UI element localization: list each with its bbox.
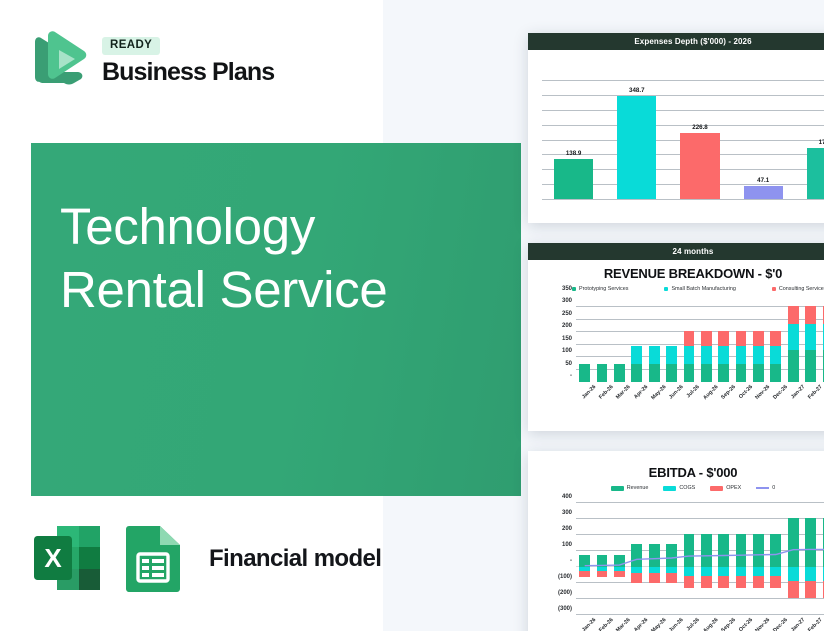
bar-segment — [753, 346, 764, 364]
x-axis-label: Oct-26 — [738, 384, 754, 400]
bar-segment-revenue — [753, 534, 764, 567]
play-triangle-logo-icon — [31, 28, 89, 90]
bar-slot — [785, 295, 802, 382]
stacked-bar — [579, 503, 590, 615]
bar-slot — [576, 503, 593, 615]
y-axis-tick: 100 — [562, 542, 576, 548]
chart-card-ebitda[interactable]: EBITDA - $'000 RevenueCOGSOPEX0 40030020… — [528, 451, 824, 631]
y-axis-tick: 400 — [562, 494, 576, 500]
bar-segment-revenue — [649, 544, 660, 567]
bar-segment-revenue — [614, 555, 625, 567]
legend-item: 0 — [756, 485, 775, 491]
stacked-bar — [718, 503, 729, 615]
x-axis-label: Jan-26 — [581, 384, 597, 400]
stacked-bar — [684, 331, 695, 382]
bar-segment — [753, 364, 764, 382]
bar-segment — [684, 331, 695, 346]
bar-segment — [718, 346, 729, 364]
stacked-bar — [684, 503, 695, 615]
bar-segment — [718, 331, 729, 346]
bar-segment — [684, 346, 695, 364]
x-axis-label: May-26 — [650, 384, 667, 401]
x-axis-label: Apr-26 — [633, 384, 649, 400]
legend-swatch — [664, 287, 668, 291]
x-axis-label: Dec-26 — [773, 617, 790, 631]
y-axis-tick: 300 — [562, 510, 576, 516]
bar-segment — [805, 324, 816, 350]
bar-slot — [593, 503, 610, 615]
bar-slot — [750, 503, 767, 615]
x-axis-label: Dec-26 — [773, 384, 790, 401]
bar-segment — [770, 346, 781, 364]
x-axis-label: Jun-26 — [668, 384, 685, 401]
stacked-bar — [649, 346, 660, 382]
bar-slot — [819, 295, 824, 382]
stacked-bar — [649, 503, 660, 615]
y-axis-tick: (300) — [558, 606, 576, 612]
legend-swatch — [663, 486, 676, 491]
bar-slot: 176.5 — [795, 81, 824, 200]
bar-slot: 348.7 — [605, 81, 668, 200]
x-axis-label: Jan-27 — [790, 617, 806, 631]
bar-segment — [649, 364, 660, 382]
bar-slot — [715, 295, 732, 382]
bar-segment — [788, 324, 799, 350]
bar-slot: 138.9 — [542, 81, 605, 200]
legend-label: Consulting Services — [779, 286, 824, 292]
bar-segment — [770, 364, 781, 382]
bar-segment-opex — [736, 576, 747, 588]
bar: 47.1 — [744, 186, 783, 200]
bar-slot — [785, 503, 802, 615]
stacked-bar — [579, 364, 590, 382]
x-axis-label: Apr-26 — [633, 617, 649, 631]
bar: 138.9 — [554, 159, 593, 200]
bar-slot — [715, 503, 732, 615]
stacked-bar — [631, 503, 642, 615]
legend-swatch — [772, 287, 776, 291]
y-axis-tick: 50 — [565, 361, 576, 367]
x-axis-labels-ebitda: Jan-26Feb-26Mar-26Apr-26May-26Jun-26Jul-… — [576, 615, 824, 623]
bar-segment-opex — [649, 573, 660, 582]
y-axis-tick: (200) — [558, 590, 576, 596]
stacked-bar — [753, 503, 764, 615]
x-axis-label: Jul-26 — [685, 384, 700, 399]
legend-label: 0 — [772, 485, 775, 491]
bar-slot: 47.1 — [732, 81, 795, 200]
bar-segment-cogs — [805, 567, 816, 581]
x-axis-label: Aug-26 — [702, 384, 719, 401]
x-axis-label: Jun-26 — [668, 617, 685, 631]
bar-segment — [614, 364, 625, 382]
chart-band-title-expenses: Expenses Depth ($'000) - 2026 — [528, 33, 824, 50]
bar: 348.7 — [617, 96, 656, 200]
bar-segment — [805, 306, 816, 324]
stacked-bar — [597, 364, 608, 382]
bar-segment-opex — [805, 581, 816, 598]
legend-item: Prototyping Services — [572, 286, 628, 292]
x-axis-label: Feb-26 — [598, 384, 615, 401]
bar-slot — [802, 295, 819, 382]
x-axis-labels-revenue: Jan-26Feb-26Mar-26Apr-26May-26Jun-26Jul-… — [576, 382, 824, 390]
x-axis-label: Mar-26 — [616, 617, 633, 631]
bar-segment — [666, 364, 677, 382]
bar-slot — [646, 295, 663, 382]
bar-segment-opex — [666, 573, 677, 582]
legend-label: Prototyping Services — [579, 286, 628, 292]
bar-slot — [611, 295, 628, 382]
google-sheets-icon — [120, 522, 188, 595]
format-footer: X Financial model — [31, 522, 381, 595]
x-axis-label: Sep-26 — [720, 384, 737, 401]
legend-label: Revenue — [627, 485, 649, 491]
bar-slot — [698, 503, 715, 615]
bar-segment-opex — [614, 571, 625, 578]
ready-badge: READY — [102, 37, 160, 55]
y-axis-tick: (100) — [558, 574, 576, 580]
xlab-slot: Jan-26 — [576, 382, 593, 390]
bar-segment — [649, 346, 660, 364]
bar-segment — [597, 364, 608, 382]
chart-card-revenue-breakdown[interactable]: 24 months REVENUE BREAKDOWN - $'0 Protot… — [528, 243, 824, 431]
stacked-bar — [701, 503, 712, 615]
microsoft-excel-icon: X — [31, 522, 103, 595]
bar-segment — [718, 364, 729, 382]
stacked-bar — [753, 331, 764, 382]
bar-slot: 226.8 — [668, 81, 731, 200]
brand-header: READY Business Plans — [31, 28, 274, 90]
stacked-bar — [614, 503, 625, 615]
bar-segment — [753, 331, 764, 346]
bar-slot — [593, 295, 610, 382]
bar-segment-opex — [701, 576, 712, 588]
bar-segment-revenue — [597, 555, 608, 567]
y-axis-tick: 150 — [562, 336, 576, 342]
legend-label: COGS — [679, 485, 695, 491]
bar-segment — [736, 331, 747, 346]
bar-segment — [805, 350, 816, 382]
y-axis-tick: 350 — [562, 286, 576, 292]
ebitda-plot: 400300200100-(100)(200)(300) Jan-26Feb-2… — [576, 503, 824, 615]
bar-segment-cogs — [770, 567, 781, 576]
bar: 176.5 — [807, 148, 824, 201]
bar-segment-opex — [631, 573, 642, 582]
bar-segment — [701, 346, 712, 364]
xlab-slot: Jan-26 — [576, 615, 593, 623]
bar-segment — [684, 364, 695, 382]
bar-segment-revenue — [631, 544, 642, 567]
bar-segment-opex — [770, 576, 781, 588]
bar-segment — [788, 306, 799, 324]
stacked-bar — [631, 346, 642, 382]
bar-segment-opex — [718, 576, 729, 588]
chart-band-title-months: 24 months — [528, 243, 824, 260]
bar-segment-opex — [684, 576, 695, 588]
revenue-breakdown-title: REVENUE BREAKDOWN - $'0 — [528, 260, 824, 283]
x-axis-label: Sep-26 — [720, 617, 737, 631]
bar-slot — [680, 503, 697, 615]
excel-letter: X — [44, 543, 62, 573]
x-axis-label: Aug-26 — [702, 617, 719, 631]
x-axis-label: Feb-27 — [807, 617, 824, 631]
x-axis-label: Jan-26 — [581, 617, 597, 631]
legend-item: OPEX — [710, 485, 741, 491]
bar-slot — [576, 295, 593, 382]
x-axis-label: Feb-27 — [807, 384, 824, 401]
bar-segment-revenue — [788, 518, 799, 567]
y-axis-tick: 200 — [562, 526, 576, 532]
stacked-bar — [701, 331, 712, 382]
bars-expenses: 138.9348.7226.847.1176.5 — [542, 81, 824, 200]
bar-segment-revenue — [684, 534, 695, 567]
legend-item: COGS — [663, 485, 695, 491]
bar-slot — [750, 295, 767, 382]
legend-item: Small Batch Manufacturing — [664, 286, 735, 292]
bar-slot — [680, 295, 697, 382]
x-axis-label: May-26 — [650, 617, 667, 631]
x-axis-label: Nov-26 — [755, 384, 772, 401]
bar-value-label: 138.9 — [566, 150, 581, 157]
bar-segment — [788, 350, 799, 382]
y-axis-tick: 100 — [562, 348, 576, 354]
legend-swatch — [611, 486, 624, 491]
stacked-bar — [597, 503, 608, 615]
chart-card-expenses-depth[interactable]: Expenses Depth ($'000) - 2026 138.9348.7… — [528, 33, 824, 223]
stacked-bar — [614, 364, 625, 382]
legend-ebitda: RevenueCOGSOPEX0 — [528, 482, 824, 493]
bar-value-label: 47.1 — [757, 177, 769, 184]
bar-segment — [770, 331, 781, 346]
bar-value-label: 226.8 — [692, 124, 707, 131]
expenses-depth-plot: 138.9348.7226.847.1176.5 — [542, 81, 824, 200]
bar-segment-cogs — [788, 567, 799, 581]
bar-slot — [663, 503, 680, 615]
brand-text: READY Business Plans — [102, 33, 274, 85]
x-axis-label: Mar-26 — [616, 384, 633, 401]
bar-segment — [631, 346, 642, 364]
bar-slot — [628, 503, 645, 615]
y-axis-tick: 200 — [562, 323, 576, 329]
bar-segment-opex — [753, 576, 764, 588]
bar-segment-cogs — [684, 567, 695, 576]
bar-segment-cogs — [701, 567, 712, 576]
bar-segment — [736, 346, 747, 364]
revenue-breakdown-plot: 35030025020015010050- Jan-26Feb-26Mar-26… — [576, 295, 824, 382]
stacked-bar — [666, 346, 677, 382]
bar-slot — [628, 295, 645, 382]
legend-item: Consulting Services — [772, 286, 824, 292]
bar-segment — [579, 364, 590, 382]
bar-segment-cogs — [753, 567, 764, 576]
bar-segment — [666, 346, 677, 364]
bar: 226.8 — [680, 133, 719, 200]
bar-segment-revenue — [718, 534, 729, 567]
stacked-bar — [666, 503, 677, 615]
stacked-bar — [805, 503, 816, 615]
ebitda-title: EBITDA - $'000 — [528, 451, 824, 482]
bar-segment-revenue — [805, 518, 816, 567]
bars-revenue — [576, 295, 824, 382]
legend-swatch — [710, 486, 723, 491]
x-axis-label: Feb-26 — [598, 617, 615, 631]
stacked-bar — [736, 331, 747, 382]
bar-segment-cogs — [718, 567, 729, 576]
bar-value-label: 176.5 — [819, 139, 824, 146]
slide-canvas: READY Business Plans Technology Rental S… — [0, 0, 824, 631]
bar-slot — [802, 503, 819, 615]
stacked-bar — [788, 306, 799, 382]
bar-segment-opex — [597, 571, 608, 578]
page-title: Technology Rental Service — [60, 196, 387, 321]
bar-segment — [701, 364, 712, 382]
stacked-bar — [770, 503, 781, 615]
bar-slot — [767, 295, 784, 382]
stacked-bar — [718, 331, 729, 382]
x-axis-label: Nov-26 — [755, 617, 772, 631]
y-axis-tick: 250 — [562, 311, 576, 317]
hero-banner: Technology Rental Service — [31, 143, 521, 496]
x-axis-line — [542, 199, 824, 200]
bar-segment-cogs — [736, 567, 747, 576]
bar-segment-opex — [579, 571, 590, 578]
stacked-bar — [770, 331, 781, 382]
bar-segment — [701, 331, 712, 346]
stacked-bar — [805, 306, 816, 382]
legend-swatch — [756, 487, 769, 489]
bar-segment — [631, 364, 642, 382]
bar-slot — [732, 503, 749, 615]
y-axis-tick: 300 — [562, 298, 576, 304]
bar-segment-revenue — [701, 534, 712, 567]
x-axis-label: Jan-27 — [790, 384, 806, 400]
bars-ebitda — [576, 503, 824, 615]
stacked-bar — [788, 503, 799, 615]
financial-model-label: Financial model — [209, 545, 381, 573]
bar-segment — [736, 364, 747, 382]
bar-segment-revenue — [579, 555, 590, 567]
bar-slot — [767, 503, 784, 615]
bar-segment-revenue — [736, 534, 747, 567]
bar-slot — [732, 295, 749, 382]
x-axis-label: Oct-26 — [738, 617, 754, 631]
bar-segment-revenue — [770, 534, 781, 567]
bar-slot — [646, 503, 663, 615]
bar-value-label: 348.7 — [629, 87, 644, 94]
bar-segment-opex — [788, 581, 799, 598]
bar-slot — [698, 295, 715, 382]
bar-segment-revenue — [666, 544, 677, 567]
bar-slot — [611, 503, 628, 615]
x-axis-label: Jul-26 — [685, 617, 700, 631]
legend-label: OPEX — [726, 485, 741, 491]
stacked-bar — [736, 503, 747, 615]
brand-name: Business Plans — [102, 60, 274, 85]
legend-label: Small Batch Manufacturing — [671, 286, 735, 292]
bar-slot — [819, 503, 824, 615]
legend-item: Revenue — [611, 485, 649, 491]
bar-slot — [663, 295, 680, 382]
